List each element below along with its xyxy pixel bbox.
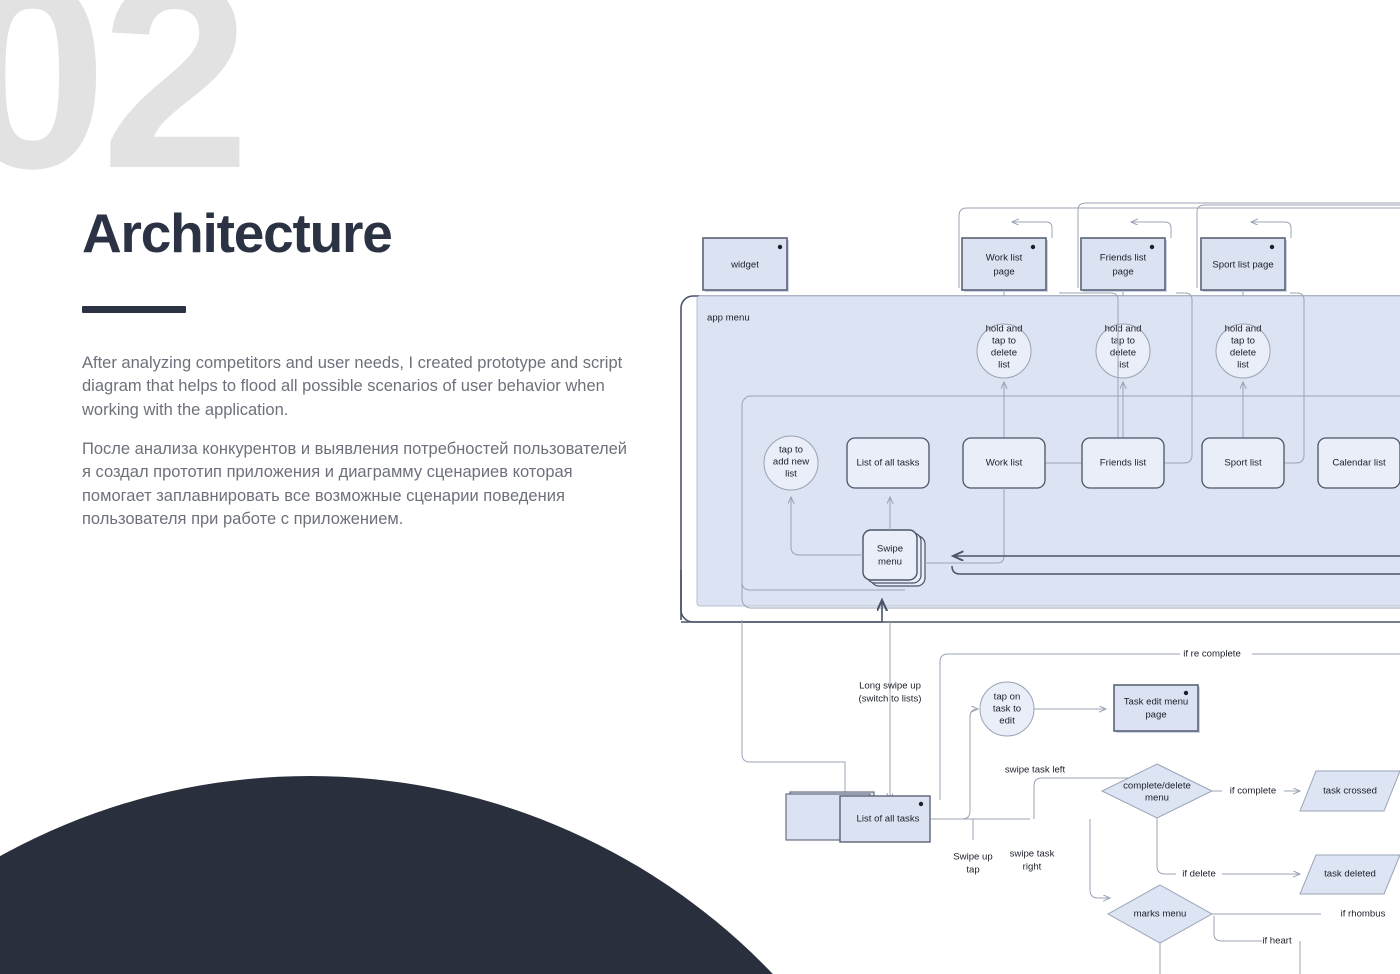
tasks-to-tap-edit-connector (930, 709, 978, 819)
svg-text:page: page (1145, 710, 1166, 721)
circle-node-hold-and-tap-work[interactable]: hold and tap to delete list (977, 324, 1031, 378)
svg-text:hold and: hold and (986, 324, 1023, 335)
svg-text:tap to: tap to (992, 336, 1016, 347)
svg-text:tap to: tap to (779, 445, 803, 456)
svg-text:Swipe: Swipe (877, 544, 903, 555)
page-node-friends-list-page-label-1: Friends list (1100, 253, 1147, 264)
page-node-work-list-page-label-1: Work list (986, 253, 1023, 264)
list-node-work-list[interactable]: Work list (963, 438, 1045, 488)
circle-node-tap-on-task-to-edit[interactable]: tap on task to edit (980, 682, 1034, 736)
list-node-sport-list[interactable]: Sport list (1202, 438, 1284, 488)
svg-text:right: right (1023, 862, 1042, 873)
svg-text:delete: delete (1230, 348, 1256, 359)
edge-label-if-rhombus: if rhombus (1341, 909, 1386, 920)
page-node-work-list-page[interactable]: Work list page (962, 238, 1048, 292)
svg-text:complete/delete: complete/delete (1123, 781, 1191, 792)
page-node-friends-list-page[interactable]: Friends list page (1081, 238, 1167, 292)
svg-text:marks menu: marks menu (1134, 909, 1187, 920)
svg-text:Task edit menu: Task edit menu (1124, 697, 1189, 708)
page-node-task-edit-menu-page[interactable]: Task edit menu page (1114, 685, 1200, 733)
circle-node-hold-and-tap-friends[interactable]: hold and tap to delete list (1096, 324, 1150, 378)
edge-label-swipe-task-left: swipe task left (1005, 765, 1066, 776)
page-node-widget-label: widget (730, 260, 759, 271)
svg-text:hold and: hold and (1105, 324, 1142, 335)
page-node-widget[interactable]: widget (703, 238, 789, 292)
diamond-node-complete-delete-menu[interactable]: complete/delete menu (1102, 764, 1212, 818)
page-node-sport-list-page[interactable]: Sport list page (1201, 238, 1287, 292)
svg-text:tap to: tap to (1111, 336, 1135, 347)
svg-text:delete: delete (991, 348, 1017, 359)
page-node-list-of-all-tasks-lower[interactable]: List of all tasks (786, 792, 930, 842)
svg-text:(switch to lists): (switch to lists) (859, 694, 922, 705)
svg-text:delete: delete (1110, 348, 1136, 359)
svg-text:List of all tasks: List of all tasks (857, 814, 920, 825)
svg-text:list: list (998, 360, 1010, 371)
svg-text:swipe task: swipe task (1010, 849, 1055, 860)
svg-text:tap: tap (966, 865, 979, 876)
circle-node-hold-and-tap-sport[interactable]: hold and tap to delete list (1216, 324, 1270, 378)
svg-text:task deleted: task deleted (1324, 869, 1376, 880)
svg-text:tap on: tap on (994, 692, 1021, 703)
edge-label-if-complete: if complete (1230, 786, 1276, 797)
svg-text:Swipe up: Swipe up (953, 852, 992, 863)
edge-label-if-re-complete: if re complete (1183, 649, 1241, 660)
svg-text:Sport list: Sport list (1224, 458, 1262, 469)
svg-text:task to: task to (993, 704, 1021, 715)
svg-text:list: list (1237, 360, 1249, 371)
svg-text:list: list (1117, 360, 1129, 371)
app-menu-label: app menu (707, 313, 750, 324)
if-delete-connector (1157, 818, 1300, 874)
page-node-sport-list-page-label: Sport list page (1212, 260, 1273, 271)
svg-text:Work list: Work list (986, 458, 1023, 469)
edge-label-if-heart: if heart (1262, 936, 1292, 947)
svg-text:list: list (785, 469, 797, 480)
edge-label-if-delete: if delete (1182, 869, 1216, 880)
svg-text:hold and: hold and (1225, 324, 1262, 335)
svg-text:Friends list: Friends list (1100, 458, 1147, 469)
svg-text:add new: add new (773, 457, 809, 468)
circle-node-tap-to-add-new-list[interactable]: tap to add new list (764, 436, 818, 490)
lower-left-connectors (742, 620, 890, 800)
svg-text:Calendar list: Calendar list (1332, 458, 1386, 469)
svg-text:edit: edit (999, 716, 1015, 727)
edge-label-swipe-up-tap: Swipe up tap (953, 852, 992, 876)
svg-text:menu: menu (878, 557, 902, 568)
diamond-node-marks-menu[interactable]: marks menu (1108, 885, 1212, 943)
svg-text:tap to: tap to (1231, 336, 1255, 347)
parallelogram-node-task-crossed[interactable]: task crossed (1300, 771, 1400, 811)
page-node-work-list-page-label-2: page (993, 267, 1014, 278)
page-node-friends-list-page-label-2: page (1112, 267, 1133, 278)
svg-text:Long swipe up: Long swipe up (859, 681, 921, 692)
parallelogram-node-task-deleted[interactable]: task deleted (1300, 855, 1400, 894)
list-node-list-of-all-tasks[interactable]: List of all tasks (847, 438, 929, 488)
edge-label-swipe-task-right: swipe task right (1010, 849, 1055, 873)
list-node-calendar-list[interactable]: Calendar list (1318, 438, 1400, 488)
svg-text:menu: menu (1145, 793, 1169, 804)
slide-canvas: 02 Architecture After analyzing competit… (0, 0, 1400, 974)
stack-node-swipe-menu[interactable]: Swipe menu (863, 530, 925, 586)
svg-text:task crossed: task crossed (1323, 786, 1377, 797)
svg-text:List of all tasks: List of all tasks (857, 458, 920, 469)
list-node-friends-list[interactable]: Friends list (1082, 438, 1164, 488)
